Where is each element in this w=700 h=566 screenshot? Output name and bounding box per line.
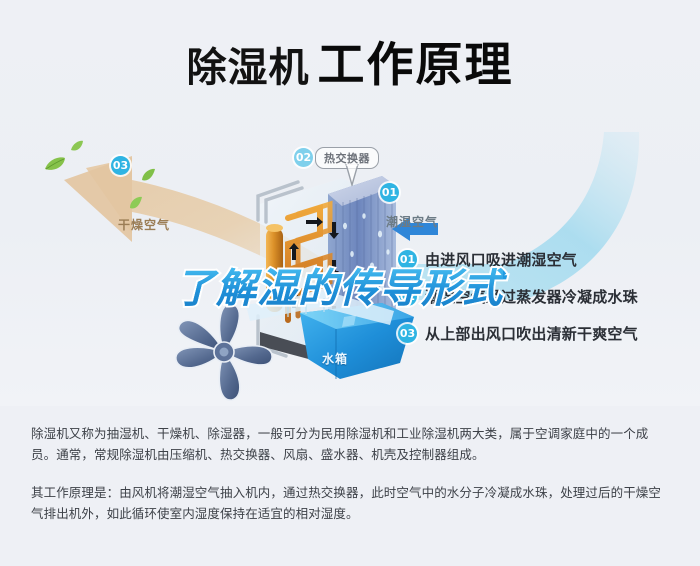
leaf-icon [128,196,143,210]
legend-item-02: 02 潮湿空气经过蒸发器冷凝成水珠 [398,280,698,312]
bubble-tail-icon [345,164,359,186]
legend-badge-01: 01 [398,250,417,269]
body-paragraph-2: 其工作原理是：由风机将潮湿空气抽入机内，通过热交换器，此时空气中的水分子冷凝成水… [31,482,671,524]
callout-label-humid-air: 潮湿空气 [386,213,438,230]
callout-badge-01: 01 [380,183,399,202]
base-shell-icon [240,291,400,351]
legend-item-01: 01 由进风口吸进潮湿空气 [398,243,698,275]
legend-item-03: 03 从上部出风口吹出清新干爽空气 [398,317,698,349]
legend-list: 01 由进风口吸进潮湿空气 02 潮湿空气经过蒸发器冷凝成水珠 03 从上部出风… [398,243,698,354]
water-tank-label: 水箱 [322,350,348,367]
callout-badge-02: 02 [294,148,313,167]
body-copy-section: 除湿机又称为抽湿机、干燥机、除湿器，一般可分为民用除湿机和工业除湿机两大类，属于… [0,406,700,566]
page-title-part2: 工作原理 [318,38,514,93]
legend-badge-03: 03 [398,324,417,343]
leaf-icon [44,156,66,172]
callout-badge-03: 03 [111,156,130,175]
legend-badge-02: 02 [398,287,417,306]
hero-section: 除湿机工作原理 [0,0,700,406]
legend-text-03: 从上部出风口吹出清新干爽空气 [425,323,638,344]
page-title: 除湿机工作原理 [0,26,700,95]
dehumidifier-infographic: 除湿机工作原理 [0,0,700,566]
page-title-part1: 除湿机 [187,45,310,91]
legend-text-01: 由进风口吸进潮湿空气 [425,249,577,270]
leaf-icon [140,168,156,182]
body-paragraph-1: 除湿机又称为抽湿机、干燥机、除湿器，一般可分为民用除湿机和工业除湿机两大类，属于… [31,423,671,465]
callout-label-dry-air: 干燥空气 [118,216,170,233]
leaf-icon [70,140,84,152]
legend-text-02: 潮湿空气经过蒸发器冷凝成水珠 [425,286,638,307]
